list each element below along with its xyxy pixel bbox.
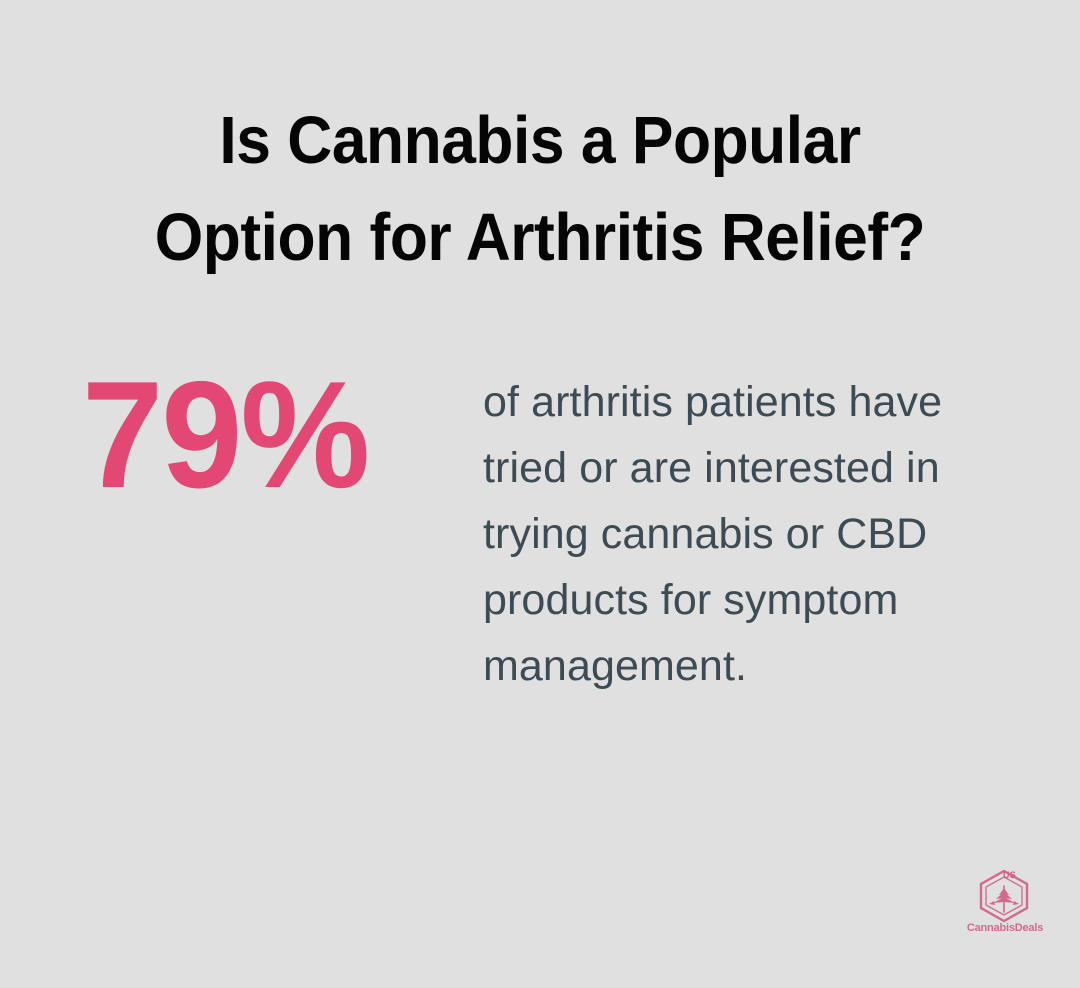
brand-logo: US CannabisDeals xyxy=(955,868,1055,948)
title-line-2: Option for Arthritis Relief? xyxy=(75,189,1005,286)
logo-superscript: US xyxy=(1003,870,1016,880)
stat-description: of arthritis patients have tried or are … xyxy=(483,369,983,699)
infographic-canvas: Is Cannabis a Popular Option for Arthrit… xyxy=(0,0,1080,988)
logo-wordmark: CannabisDeals xyxy=(955,922,1055,934)
stat-section: 79% of arthritis patients have tried or … xyxy=(0,355,1080,785)
page-title: Is Cannabis a Popular Option for Arthrit… xyxy=(0,92,1080,286)
title-line-1: Is Cannabis a Popular xyxy=(75,92,1005,189)
stat-value: 79% xyxy=(82,355,368,515)
